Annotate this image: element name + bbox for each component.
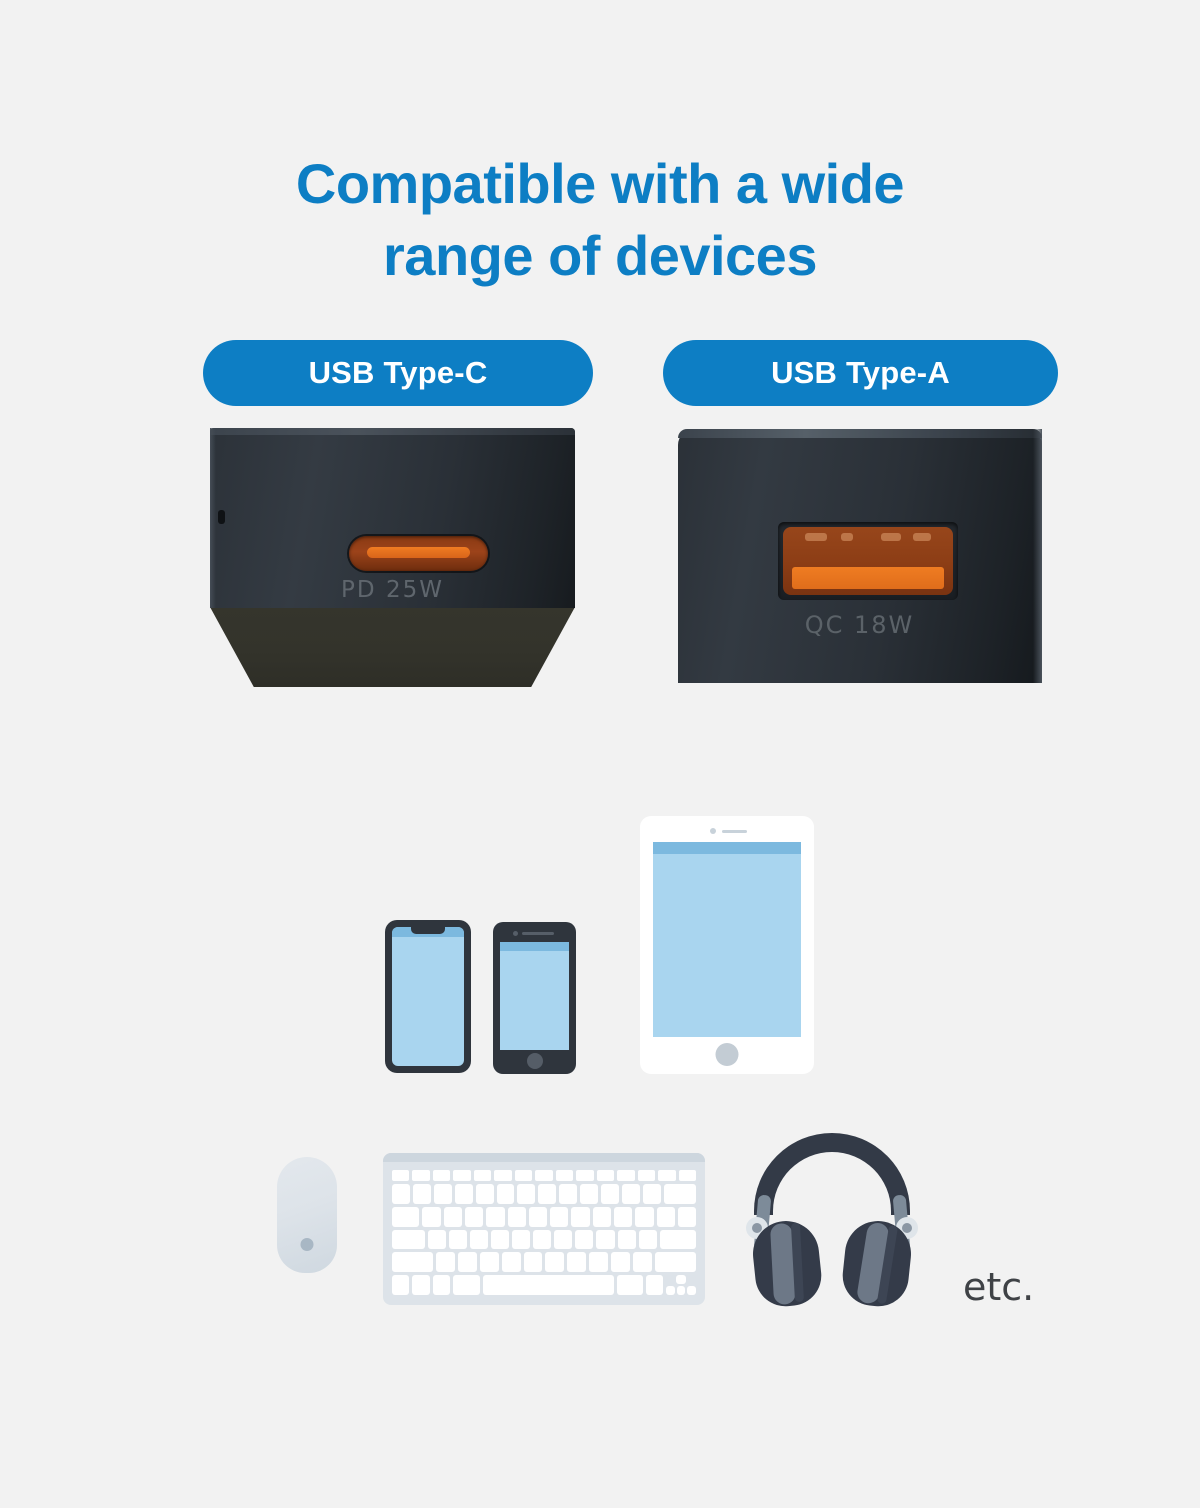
keyboard-key bbox=[580, 1184, 598, 1204]
keyboard-key-arrow-up bbox=[676, 1275, 686, 1284]
smartphone-screen bbox=[500, 942, 569, 1050]
charger-body-taper bbox=[210, 607, 575, 687]
keyboard-key-option bbox=[433, 1275, 450, 1295]
keyboard-key-tab bbox=[392, 1207, 419, 1227]
keyboard-row-home bbox=[392, 1230, 696, 1250]
keyboard-key bbox=[515, 1170, 532, 1181]
headphones-earcup-right bbox=[840, 1218, 915, 1309]
keyboard-key bbox=[412, 1170, 429, 1181]
keyboard-key bbox=[453, 1170, 470, 1181]
keyboard-key bbox=[502, 1252, 521, 1272]
keyboard-key bbox=[428, 1230, 446, 1250]
usb-a-port bbox=[778, 522, 958, 600]
keyboard-key bbox=[559, 1184, 577, 1204]
keyboard-key bbox=[480, 1252, 499, 1272]
keyboard-key-fn bbox=[392, 1275, 409, 1295]
keyboard-key bbox=[476, 1184, 494, 1204]
headphones-earcup-left bbox=[750, 1218, 825, 1309]
mouse-scroll-wheel bbox=[301, 1238, 314, 1251]
keyboard-key bbox=[433, 1170, 450, 1181]
keyboard-key bbox=[576, 1170, 593, 1181]
keyboard-arrow-cluster bbox=[666, 1275, 696, 1295]
front-camera-icon bbox=[710, 828, 716, 834]
keyboard-key bbox=[422, 1207, 440, 1227]
keyboard-key bbox=[533, 1230, 551, 1250]
keyboard-key bbox=[413, 1184, 431, 1204]
keyboard-key bbox=[444, 1207, 462, 1227]
badge-usb-type-a: USB Type-A bbox=[663, 340, 1058, 406]
keyboard-key bbox=[614, 1207, 632, 1227]
keyboard-row-function bbox=[392, 1170, 696, 1181]
keyboard-key bbox=[545, 1252, 564, 1272]
keyboard-key bbox=[434, 1184, 452, 1204]
usb-c-port bbox=[349, 536, 488, 571]
keyboard-key-backspace bbox=[664, 1184, 696, 1204]
tablet-status-bar bbox=[653, 842, 801, 854]
usb-a-engraved-label: QC 18W bbox=[672, 611, 1047, 639]
keyboard-key bbox=[436, 1252, 455, 1272]
headphones-headband bbox=[754, 1133, 910, 1215]
keyboard-key bbox=[633, 1252, 652, 1272]
keyboard-row-modifiers bbox=[392, 1275, 696, 1295]
keyboard-key bbox=[517, 1184, 535, 1204]
usb-a-pin bbox=[881, 533, 901, 541]
badge-usb-type-c: USB Type-C bbox=[203, 340, 593, 406]
keyboard-row-top bbox=[392, 1207, 696, 1227]
keyboard-key bbox=[524, 1252, 543, 1272]
product-feature-page: Compatible with a wide range of devices … bbox=[0, 0, 1200, 1508]
charger-photo-usb-a: QC 18W bbox=[672, 425, 1047, 683]
keyboard-key bbox=[678, 1207, 696, 1227]
keyboard-key bbox=[611, 1252, 630, 1272]
keyboard-key bbox=[470, 1230, 488, 1250]
keyboard-arrow-up-row bbox=[666, 1275, 696, 1284]
usb-a-pin bbox=[805, 533, 827, 541]
keyboard-key bbox=[622, 1184, 640, 1204]
keyboard-key bbox=[597, 1170, 614, 1181]
keyboard-key-command-left bbox=[453, 1275, 479, 1295]
keyboard-key bbox=[618, 1230, 636, 1250]
keyboard-key bbox=[593, 1207, 611, 1227]
device-keyboard bbox=[383, 1153, 705, 1305]
keyboard-key bbox=[474, 1170, 491, 1181]
keyboard-key bbox=[449, 1230, 467, 1250]
keyboard-key bbox=[554, 1230, 572, 1250]
smartphone-screen bbox=[392, 927, 464, 1066]
keyboard-row-bottom bbox=[392, 1252, 696, 1272]
mouse-body bbox=[277, 1157, 337, 1273]
keyboard-key bbox=[497, 1184, 515, 1204]
keyboard-key bbox=[589, 1252, 608, 1272]
keyboard-key bbox=[465, 1207, 483, 1227]
front-camera-icon bbox=[513, 931, 518, 936]
keyboard-key bbox=[486, 1207, 504, 1227]
keyboard-key-arrow-right bbox=[687, 1286, 696, 1295]
page-title-line-2: range of devices bbox=[0, 220, 1200, 292]
keyboard-key-spacebar bbox=[483, 1275, 614, 1295]
usb-a-pin bbox=[841, 533, 853, 541]
keyboard-key-shift-left bbox=[392, 1252, 433, 1272]
keyboard-key bbox=[571, 1207, 589, 1227]
keyboard-row-numbers bbox=[392, 1184, 696, 1204]
keyboard-key bbox=[494, 1170, 511, 1181]
keyboard-key bbox=[508, 1207, 526, 1227]
keyboard-key bbox=[617, 1170, 634, 1181]
page-title-line-1: Compatible with a wide bbox=[0, 148, 1200, 220]
keyboard-key-command-right bbox=[617, 1275, 643, 1295]
keyboard-key bbox=[643, 1184, 661, 1204]
keyboard-key bbox=[556, 1170, 573, 1181]
keyboard-key bbox=[512, 1230, 530, 1250]
keyboard-key bbox=[550, 1207, 568, 1227]
keyboard-key bbox=[658, 1170, 675, 1181]
keyboard-key bbox=[596, 1230, 614, 1250]
keyboard-key bbox=[392, 1184, 410, 1204]
device-headphones bbox=[742, 1133, 922, 1308]
usb-a-port-tongue bbox=[792, 567, 944, 589]
keyboard-key bbox=[575, 1230, 593, 1250]
keyboard-key-arrow-down bbox=[677, 1286, 686, 1295]
keyboard-key bbox=[538, 1184, 556, 1204]
keyboard-key-capslock bbox=[392, 1230, 425, 1250]
usb-c-port-tongue bbox=[367, 547, 470, 558]
charger-edge-detail bbox=[218, 510, 225, 524]
usb-a-port-inner bbox=[783, 527, 953, 595]
keyboard-key-shift-right bbox=[655, 1252, 696, 1272]
device-smartphone-home-button bbox=[493, 922, 576, 1074]
device-smartphone-notch bbox=[385, 920, 471, 1073]
keyboard-keys bbox=[392, 1170, 696, 1295]
home-button bbox=[527, 1053, 543, 1069]
usb-c-engraved-label: PD 25W bbox=[205, 577, 580, 603]
badge-usb-type-a-label: USB Type-A bbox=[771, 355, 950, 391]
keyboard-key bbox=[458, 1252, 477, 1272]
badge-usb-type-c-label: USB Type-C bbox=[309, 355, 488, 391]
keyboard-key bbox=[455, 1184, 473, 1204]
usb-a-pin bbox=[913, 533, 931, 541]
page-title: Compatible with a wide range of devices bbox=[0, 148, 1200, 292]
device-mouse bbox=[277, 1157, 337, 1273]
charger-photo-usb-c: PD 25W bbox=[205, 425, 580, 687]
keyboard-key bbox=[679, 1170, 696, 1181]
earpiece-speaker bbox=[522, 932, 554, 935]
keyboard-key bbox=[635, 1207, 653, 1227]
keyboard-key-option-right bbox=[646, 1275, 663, 1295]
tablet-screen bbox=[653, 842, 801, 1037]
keyboard-key bbox=[657, 1207, 675, 1227]
keyboard-key bbox=[567, 1252, 586, 1272]
home-button bbox=[716, 1043, 739, 1066]
keyboard-key-control bbox=[412, 1275, 429, 1295]
keyboard-key bbox=[392, 1170, 409, 1181]
earpiece-speaker bbox=[722, 830, 747, 833]
charger-body-front bbox=[678, 429, 1042, 683]
keyboard-key bbox=[535, 1170, 552, 1181]
keyboard-key-enter bbox=[660, 1230, 696, 1250]
keyboard-key bbox=[639, 1230, 657, 1250]
keyboard-key bbox=[638, 1170, 655, 1181]
device-tablet bbox=[640, 816, 814, 1074]
keyboard-key bbox=[601, 1184, 619, 1204]
keyboard-key bbox=[529, 1207, 547, 1227]
etc-label: etc. bbox=[963, 1265, 1034, 1309]
keyboard-key bbox=[491, 1230, 509, 1250]
keyboard-arrow-bottom-row bbox=[666, 1286, 696, 1295]
keyboard-key-arrow-left bbox=[666, 1286, 675, 1295]
smartphone-status-bar bbox=[500, 942, 569, 951]
smartphone-notch bbox=[411, 927, 445, 934]
